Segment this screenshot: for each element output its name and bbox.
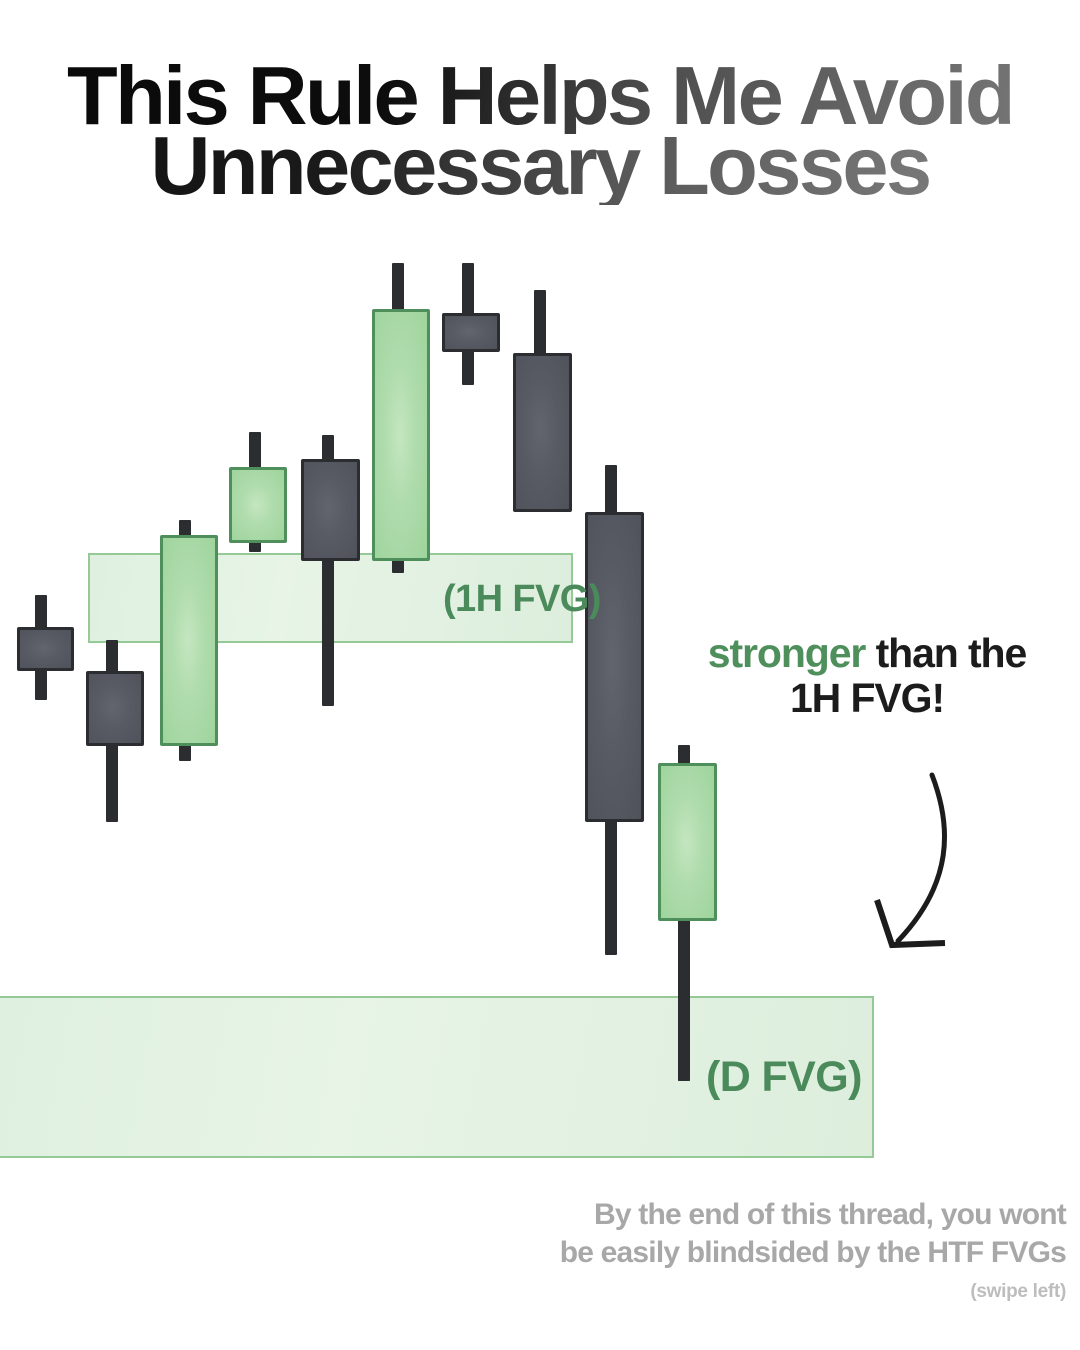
candle-body-bearish xyxy=(86,671,144,746)
candle-wick xyxy=(534,290,546,360)
callout-line-2: 1H FVG! xyxy=(668,677,1066,720)
candle-body-bullish xyxy=(160,535,218,746)
candle-body-bearish xyxy=(585,512,644,822)
candle-body-bearish xyxy=(301,459,360,561)
candle-body-bullish xyxy=(229,467,287,543)
candle-body-bearish xyxy=(17,627,74,671)
swipe-hint: (swipe left) xyxy=(420,1280,1066,1304)
candle-body-bullish xyxy=(658,763,717,921)
candle-wick-lower-daily xyxy=(678,921,690,1081)
candle-body-bullish xyxy=(372,309,430,561)
candle-body-bearish xyxy=(442,313,500,352)
footer-caption: By the end of this thread, you wont be e… xyxy=(420,1196,1066,1304)
infographic-canvas: This Rule Helps Me Avoid Unnecessary Los… xyxy=(0,0,1080,1350)
curved-arrow-icon xyxy=(860,755,990,965)
footer-line-1: By the end of this thread, you wont xyxy=(594,1198,1066,1231)
callout-highlight: stronger xyxy=(708,630,866,676)
candle-body-bearish xyxy=(513,353,572,512)
fvg-daily-label: (D FVG) xyxy=(706,1053,862,1102)
footer-line-2: be easily blindsided by the HTF FVGs xyxy=(560,1236,1066,1269)
fvg-1h-label: (1H FVG) xyxy=(443,578,601,621)
callout-text: stronger than the 1H FVG! xyxy=(668,632,1066,719)
callout-rest: than the xyxy=(865,630,1026,676)
